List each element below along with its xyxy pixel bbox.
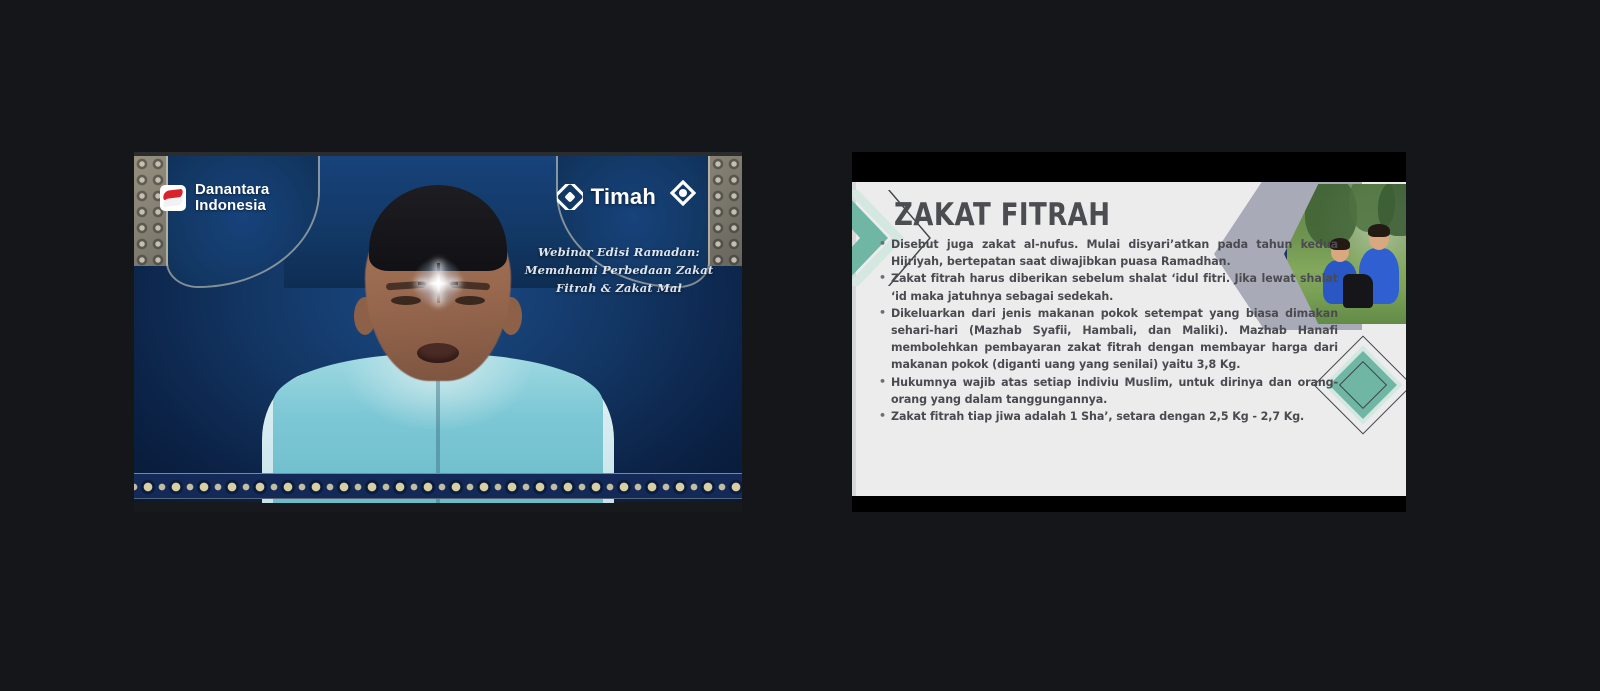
- slide-surface: ZAKAT FITRAH Disebut juga zakat al-nufus…: [852, 182, 1406, 496]
- slide-bullet-item: Zakat fitrah tiap jiwa adalah 1 Sha’, se…: [878, 408, 1338, 425]
- slide-bullet-list: Disebut juga zakat al-nufus. Mulai disya…: [878, 236, 1338, 425]
- star-glow-icon: [411, 256, 465, 310]
- slide-letterbox-bottom: [852, 496, 1406, 512]
- slide-bullet-item: Dikeluarkan dari jenis makanan pokok set…: [878, 305, 1338, 374]
- video-letterbox-bottom: [134, 502, 742, 512]
- slide-content: ZAKAT FITRAH Disebut juga zakat al-nufus…: [878, 196, 1338, 425]
- slide-letterbox-top: [852, 152, 1406, 182]
- meeting-stage: Danantara Indonesia Timah: [0, 0, 1600, 691]
- shared-screen-tile[interactable]: ZAKAT FITRAH Disebut juga zakat al-nufus…: [852, 152, 1406, 512]
- photo-volunteer-b-hair: [1368, 224, 1390, 237]
- slide-bullet-item: Zakat fitrah harus diberikan sebelum sha…: [878, 270, 1338, 304]
- timah-logo-label: Timah: [591, 184, 656, 210]
- star-cross-ray: [418, 282, 458, 285]
- slide-bullet-item: Disebut juga zakat al-nufus. Mulai disya…: [878, 236, 1338, 270]
- slide-bullet-item: Hukumnya wajib atas setiap indiviu Musli…: [878, 374, 1338, 408]
- timah-diamond-icon: [557, 184, 583, 210]
- ornamental-bottom-band: [134, 473, 742, 499]
- speaker-mouth: [417, 343, 459, 363]
- webinar-caption: Webinar Edisi Ramadan: Memahami Perbedaa…: [524, 244, 714, 297]
- timah-secondary-mark-icon: [670, 180, 696, 206]
- danantara-logo-label: Danantara Indonesia: [195, 182, 269, 214]
- danantara-flag-icon: [160, 185, 186, 211]
- photo-trash-bag: [1343, 274, 1373, 308]
- video-frame: Danantara Indonesia Timah: [134, 156, 742, 503]
- speaker-video-tile[interactable]: Danantara Indonesia Timah: [134, 152, 742, 512]
- timah-logo: Timah: [557, 184, 656, 210]
- danantara-indonesia-logo: Danantara Indonesia: [160, 182, 269, 214]
- slide-title: ZAKAT FITRAH: [894, 200, 1267, 231]
